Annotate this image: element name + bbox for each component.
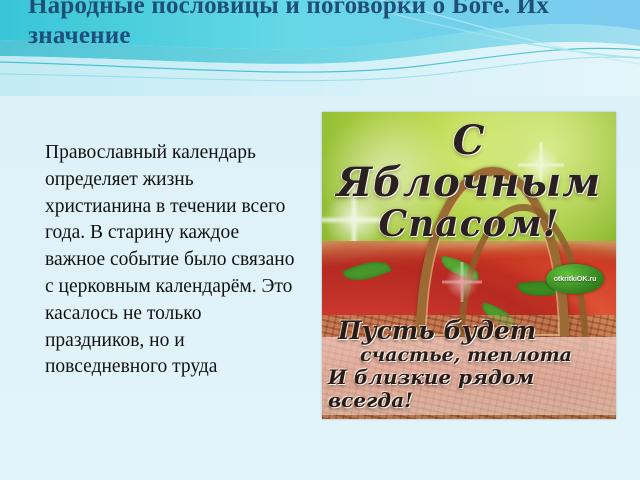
postcard-greeting: С Яблочным Спасом! [322,120,616,244]
postcard-greeting-line1: С Яблочным [322,120,616,204]
postcard-wish: Пусть будет счастье, теплота И близкие р… [322,317,616,411]
postcard-wish-line3: И близкие рядом всегда! [322,366,616,411]
postcard-wish-line1: Пусть будет [322,317,616,345]
watermark-badge: otkritkiOK.ru [546,264,604,294]
presentation-slide: Народные пословицы и поговорки о Боге. И… [0,0,640,480]
postcard-greeting-line2: Спасом! [322,206,616,244]
slide-title: Народные пословицы и поговорки о Боге. И… [28,0,628,51]
slide-body-text: Православный календарь определяет жизнь … [45,140,297,381]
postcard-image: С Яблочным Спасом! Пусть будет счастье, … [322,112,616,419]
postcard-wish-line2: счастье, теплота [322,345,616,366]
watermark-label: otkritkiOK.ru [554,276,597,283]
